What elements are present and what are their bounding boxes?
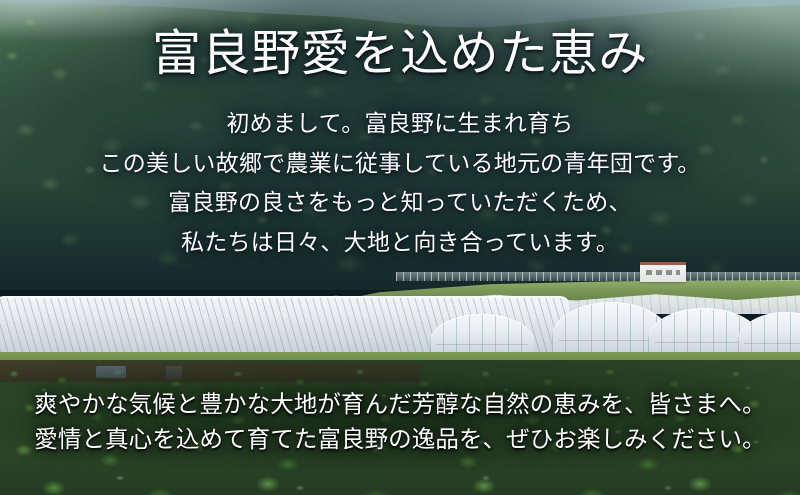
lead-line: この美しい故郷で農業に従事している地元の青年団です。: [0, 144, 800, 184]
banner-footer-copy: 爽やかな気候と豊かな大地が育んだ芳醇な自然の恵みを、皆さまへ。 愛情と真心を込め…: [0, 388, 800, 457]
vinyl-greenhouse-row: [0, 286, 800, 358]
lead-line: 初めまして。富良野に生まれ育ち: [0, 104, 800, 144]
footer-line: 愛情と真心を込めて育てた富良野の逸品を、ぜひお楽しみください。: [0, 423, 800, 458]
fence-line: [396, 272, 800, 281]
footer-line: 爽やかな気候と豊かな大地が育んだ芳醇な自然の恵みを、皆さまへ。: [0, 388, 800, 423]
promo-banner: 富良野愛を込めた恵み 初めまして。富良野に生まれ育ち この美しい故郷で農業に従事…: [0, 0, 800, 495]
shed-window: [646, 270, 680, 275]
banner-lead-copy: 初めまして。富良野に生まれ育ち この美しい故郷で農業に従事している地元の青年団で…: [0, 104, 800, 262]
banner-title: 富良野愛を込めた恵み: [0, 28, 800, 81]
lead-line: 富良野の良さをもっと知っていただくため、: [0, 183, 800, 223]
lead-line: 私たちは日々、大地と向き合っています。: [0, 223, 800, 263]
